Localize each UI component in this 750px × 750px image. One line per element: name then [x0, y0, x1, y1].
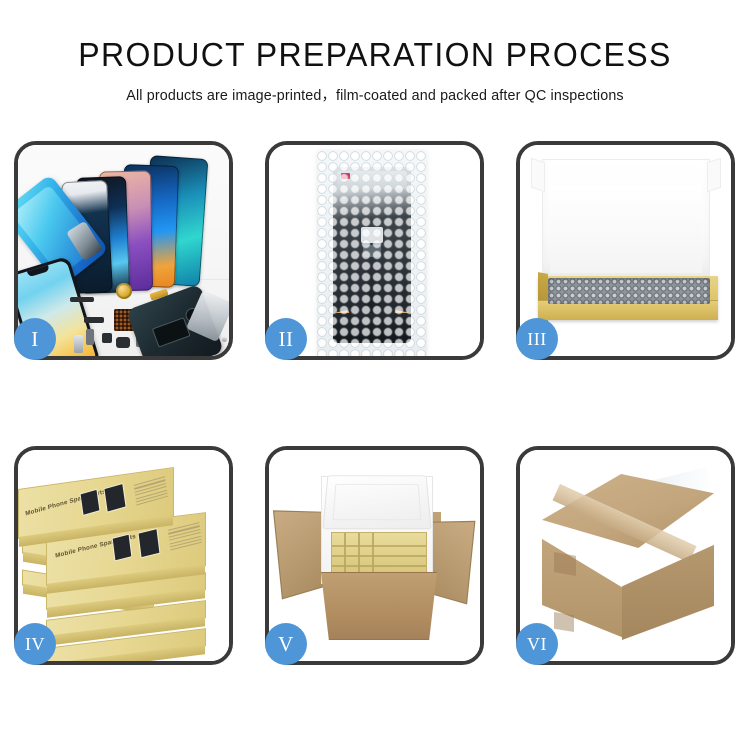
step-panel-2[interactable]: II — [265, 141, 484, 360]
box-edge-1 — [332, 545, 426, 547]
lcd-connector-2 — [363, 245, 381, 257]
steps-grid: I — [14, 141, 736, 665]
step-badge-6: VI — [516, 623, 558, 665]
box-divider-1 — [344, 533, 346, 573]
box-side — [47, 644, 205, 661]
foam-lid — [322, 475, 431, 529]
lcd-screen-assembly — [333, 167, 411, 343]
step-badge-1: I — [14, 318, 56, 360]
bubble-wrap-bag — [317, 151, 427, 356]
lcd-connector-1 — [361, 227, 383, 243]
step-badge-3: III — [516, 318, 558, 360]
step-badge-4: IV — [14, 623, 56, 665]
box-spec-lines-2 — [134, 476, 169, 508]
header: PRODUCT PREPARATION PROCESS All products… — [0, 0, 750, 105]
step-panel-4[interactable]: Mobile Phone Spare Parts Mobile Phone Sp… — [14, 446, 233, 665]
box-screen-thumbnail-3 — [79, 489, 100, 516]
box-edge-3 — [332, 565, 426, 567]
step-panel-3[interactable]: III — [516, 141, 735, 360]
box-divider-3 — [372, 533, 374, 573]
carton-front-wall — [313, 572, 445, 640]
lid-flap-right — [707, 158, 721, 193]
lcd-base — [333, 313, 411, 343]
part-connector-1 — [84, 317, 104, 323]
grey-bubble-wrap-contents — [548, 278, 710, 304]
foam-insert — [550, 187, 702, 273]
backplate-chip-1 — [152, 317, 191, 347]
part-bracket-1 — [86, 329, 94, 345]
step-badge-5: V — [265, 623, 307, 665]
lid-flap-left — [531, 158, 545, 193]
part-screw-2 — [222, 337, 227, 342]
stack-box-labelled-1: Mobile Phone Spare Parts — [18, 467, 174, 539]
gold-boxes-inside — [331, 532, 427, 574]
box-edge-2 — [332, 555, 426, 557]
step-badge-2: II — [265, 318, 307, 360]
box-screen-thumbnail-1 — [112, 534, 133, 562]
carton-tab-lower — [554, 612, 574, 632]
carton-tab-upper — [554, 552, 576, 576]
step-panel-6[interactable]: VI — [516, 446, 735, 665]
part-camera — [116, 337, 130, 348]
step-panel-5[interactable]: V — [265, 446, 484, 665]
part-speaker — [70, 297, 94, 302]
box-screen-thumbnail-2 — [137, 528, 160, 558]
product-preparation-infographic: PRODUCT PREPARATION PROCESS All products… — [0, 0, 750, 750]
box-spec-lines-1 — [168, 522, 203, 553]
page-subtitle: All products are image-printed，film-coat… — [0, 84, 750, 105]
box-screen-thumbnail-4 — [103, 483, 126, 513]
step-panel-1[interactable]: I — [14, 141, 233, 360]
part-sim-tray — [74, 335, 83, 353]
part-coil — [116, 283, 132, 299]
page-title: PRODUCT PREPARATION PROCESS — [11, 36, 739, 74]
lcd-label-sticker — [341, 173, 350, 179]
part-chip-1 — [102, 333, 112, 343]
sealed-shipping-carton — [530, 474, 726, 644]
box-divider-2 — [358, 533, 360, 573]
